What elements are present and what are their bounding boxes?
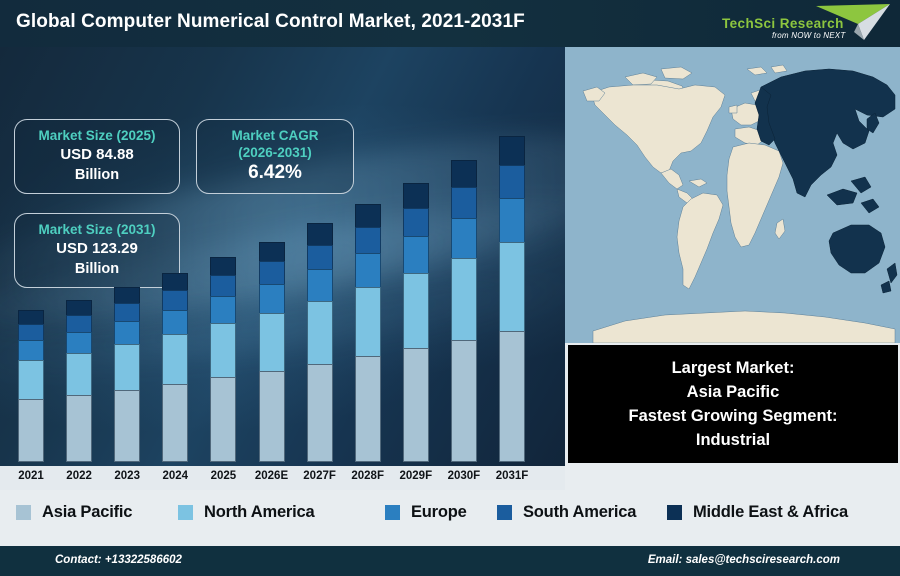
legend-item-north-america[interactable]: North America [178, 503, 314, 522]
bar-segment[interactable] [210, 377, 236, 462]
page-title: Global Computer Numerical Control Market… [16, 11, 525, 33]
bar-segment[interactable] [259, 313, 285, 371]
bar-segment[interactable] [307, 269, 333, 300]
legend-item-south-america[interactable]: South America [497, 503, 636, 522]
bar-segment[interactable] [451, 258, 477, 340]
bar-segment[interactable] [451, 187, 477, 218]
bar-segment[interactable] [114, 390, 140, 462]
techsci-logo[interactable]: TechSci Research from NOW to NEXT [714, 2, 894, 46]
bar-segment[interactable] [162, 384, 188, 462]
legend-swatch [385, 505, 400, 520]
bar-segment[interactable] [307, 301, 333, 364]
bar-segment[interactable] [114, 344, 140, 389]
bar-segment[interactable] [307, 245, 333, 270]
bar-segment[interactable] [18, 310, 44, 324]
bar-column[interactable] [18, 310, 44, 462]
bar-segment[interactable] [114, 287, 140, 303]
x-axis-label: 2026E [248, 470, 296, 482]
bar-segment[interactable] [355, 253, 381, 287]
bar-segment[interactable] [162, 310, 188, 335]
logo-tagline: from NOW to NEXT [772, 31, 845, 40]
bar-segment[interactable] [210, 323, 236, 377]
bar-segment[interactable] [355, 227, 381, 253]
bar-segment[interactable] [451, 340, 477, 462]
x-axis-label: 2031F [488, 470, 536, 482]
bar-segment[interactable] [18, 360, 44, 399]
x-axis: 202120222023202420252026E2027F2028F2029F… [0, 466, 565, 490]
x-axis-label: 2028F [344, 470, 392, 482]
bar-segment[interactable] [259, 261, 285, 284]
x-axis-label: 2025 [199, 470, 247, 482]
world-map [565, 47, 900, 343]
legend-label: Middle East & Africa [693, 503, 848, 522]
bar-segment[interactable] [114, 321, 140, 344]
legend-item-middle-east-africa[interactable]: Middle East & Africa [667, 503, 848, 522]
x-axis-label: 2027F [296, 470, 344, 482]
legend-swatch [497, 505, 512, 520]
x-axis-label: 2029F [392, 470, 440, 482]
info-line-3: Fastest Growing Segment: [628, 404, 837, 428]
legend-swatch [667, 505, 682, 520]
key-insights-box: Largest Market:Asia PacificFastest Growi… [568, 345, 898, 463]
bar-segment[interactable] [307, 364, 333, 462]
legend-swatch [178, 505, 193, 520]
bar-segment[interactable] [210, 275, 236, 296]
bar-segment[interactable] [259, 371, 285, 462]
bar-column[interactable] [66, 300, 92, 462]
legend-item-asia-pacific[interactable]: Asia Pacific [16, 503, 132, 522]
legend-label: North America [204, 503, 314, 522]
info-line-4: Industrial [696, 428, 770, 452]
x-axis-label: 2030F [440, 470, 488, 482]
bar-segment[interactable] [499, 165, 525, 198]
world-map-svg [565, 47, 900, 343]
bar-segment[interactable] [66, 332, 92, 353]
x-axis-label: 2021 [7, 470, 55, 482]
bar-column[interactable] [114, 287, 140, 462]
legend-swatch [16, 505, 31, 520]
info-line-2: Asia Pacific [687, 380, 780, 404]
logo-wordmark: TechSci Research [722, 16, 844, 31]
bar-segment[interactable] [451, 160, 477, 187]
bar-segment[interactable] [307, 223, 333, 244]
chart-legend: Asia PacificNorth AmericaEuropeSouth Ame… [0, 490, 900, 535]
bar-segment[interactable] [162, 290, 188, 310]
bar-segment[interactable] [403, 183, 429, 208]
bar-segment[interactable] [66, 395, 92, 462]
bar-column[interactable] [210, 257, 236, 462]
footer-contact[interactable]: Contact: +13322586602 [55, 554, 182, 566]
bar-segment[interactable] [499, 242, 525, 331]
legend-label: Asia Pacific [42, 503, 132, 522]
bar-segment[interactable] [403, 348, 429, 462]
bar-column[interactable] [355, 204, 381, 462]
bar-column[interactable] [403, 183, 429, 462]
bar-segment[interactable] [499, 136, 525, 165]
stacked-bar-series [0, 47, 565, 466]
bar-segment[interactable] [403, 236, 429, 273]
bar-column[interactable] [499, 136, 525, 462]
footer-email[interactable]: Email: sales@techsciresearch.com [648, 554, 840, 566]
bar-segment[interactable] [210, 296, 236, 323]
x-axis-label: 2023 [103, 470, 151, 482]
bar-segment[interactable] [162, 334, 188, 383]
footer-bar: Contact: +13322586602 Email: sales@techs… [0, 546, 900, 576]
bar-segment[interactable] [355, 204, 381, 227]
bar-column[interactable] [162, 273, 188, 462]
bar-segment[interactable] [162, 273, 188, 290]
bar-segment[interactable] [499, 198, 525, 242]
bar-segment[interactable] [66, 315, 92, 332]
bar-segment[interactable] [66, 353, 92, 395]
bar-segment[interactable] [451, 218, 477, 258]
logo-research-text: Research [776, 16, 844, 31]
legend-label: South America [523, 503, 636, 522]
info-line-1: Largest Market: [672, 356, 795, 380]
x-axis-label: 2022 [55, 470, 103, 482]
bar-segment[interactable] [259, 242, 285, 262]
bar-column[interactable] [451, 160, 477, 462]
bar-column[interactable] [307, 223, 333, 462]
bar-segment[interactable] [18, 340, 44, 360]
bar-segment[interactable] [355, 287, 381, 356]
bar-segment[interactable] [66, 300, 92, 315]
bar-segment[interactable] [403, 273, 429, 348]
x-axis-label: 2024 [151, 470, 199, 482]
logo-tech-text: TechSci [722, 16, 776, 31]
chart-panel: Market Size (2025) USD 84.88 Billion Mar… [0, 47, 565, 466]
bar-segment[interactable] [114, 303, 140, 321]
legend-label: Europe [411, 503, 467, 522]
legend-item-europe[interactable]: Europe [385, 503, 467, 522]
header-bar: Global Computer Numerical Control Market… [0, 0, 900, 47]
infographic-root: Global Computer Numerical Control Market… [0, 0, 900, 576]
bar-segment[interactable] [210, 257, 236, 275]
bar-segment[interactable] [499, 331, 525, 462]
bar-segment[interactable] [403, 208, 429, 236]
bar-segment[interactable] [18, 399, 44, 462]
bar-segment[interactable] [259, 284, 285, 313]
bar-column[interactable] [259, 242, 285, 462]
bar-segment[interactable] [355, 356, 381, 462]
bar-segment[interactable] [18, 324, 44, 340]
